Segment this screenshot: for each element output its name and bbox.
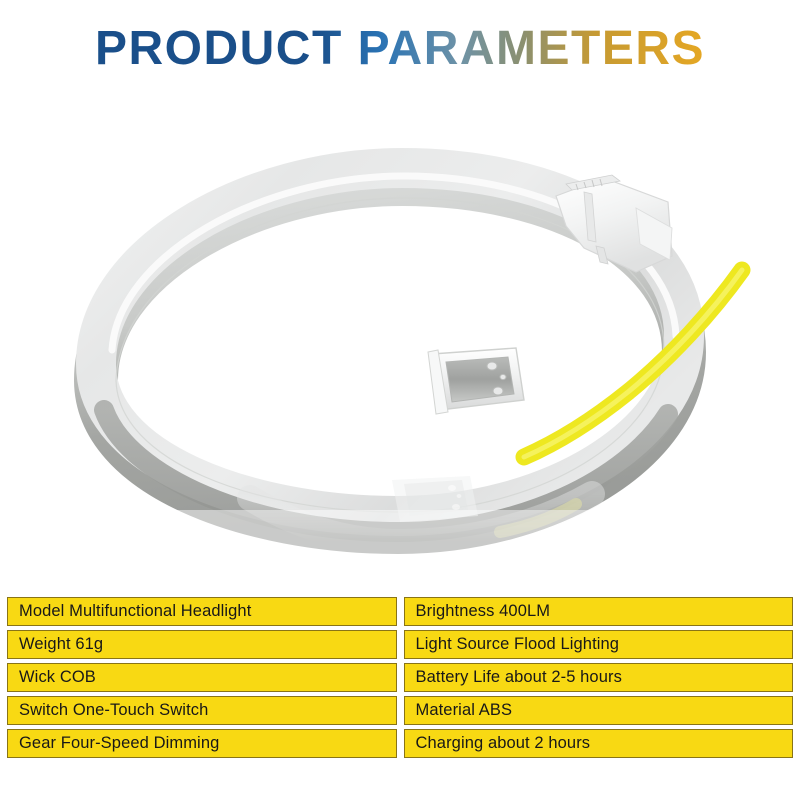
spec-text: Brightness 400LM xyxy=(416,602,551,621)
spec-text: Material ABS xyxy=(416,701,513,720)
spec-row-switch: Switch One-Touch Switch xyxy=(7,696,397,725)
spec-row-battery-life: Battery Life about 2-5 hours xyxy=(404,663,794,692)
spec-row-weight: Weight 61g xyxy=(7,630,397,659)
specs-left-column: Model Multifunctional Headlight Weight 6… xyxy=(7,597,397,758)
spec-row-light-source: Light Source Flood Lighting xyxy=(404,630,794,659)
reflection-hole xyxy=(457,494,462,498)
buckle-hole xyxy=(487,362,497,370)
page-title-container: PRODUCT PARAMETERS xyxy=(0,24,800,74)
spec-text: Switch One-Touch Switch xyxy=(19,701,208,720)
headlamp-illustration xyxy=(0,80,800,590)
page-title: PRODUCT PARAMETERS xyxy=(95,24,705,74)
product-image xyxy=(0,80,800,590)
spec-row-model: Model Multifunctional Headlight xyxy=(7,597,397,626)
reflection-hole xyxy=(448,485,456,491)
buckle-hole xyxy=(500,374,506,379)
spec-row-material: Material ABS xyxy=(404,696,794,725)
buckle-hole xyxy=(493,387,503,395)
specs-right-column: Brightness 400LM Light Source Flood Ligh… xyxy=(404,597,794,758)
spec-row-brightness: Brightness 400LM xyxy=(404,597,794,626)
spec-text: Wick COB xyxy=(19,668,96,687)
product-reflection xyxy=(0,476,800,590)
spec-text: Charging about 2 hours xyxy=(416,734,591,753)
headlamp-housing xyxy=(556,175,672,272)
spec-text: Model Multifunctional Headlight xyxy=(19,602,251,621)
spec-row-gear: Gear Four-Speed Dimming xyxy=(7,729,397,758)
spec-row-wick: Wick COB xyxy=(7,663,397,692)
spec-text: Battery Life about 2-5 hours xyxy=(416,668,622,687)
reflection-fade-mask xyxy=(0,510,800,590)
spec-text: Gear Four-Speed Dimming xyxy=(19,734,219,753)
spec-text: Weight 61g xyxy=(19,635,103,654)
product-parameters-page: PRODUCT PARAMETERS xyxy=(0,0,800,800)
specs-table: Model Multifunctional Headlight Weight 6… xyxy=(7,597,793,758)
reflection-hole xyxy=(452,504,460,510)
spec-row-charging: Charging about 2 hours xyxy=(404,729,794,758)
adjuster-buckle xyxy=(428,348,524,414)
spec-text: Light Source Flood Lighting xyxy=(416,635,620,654)
